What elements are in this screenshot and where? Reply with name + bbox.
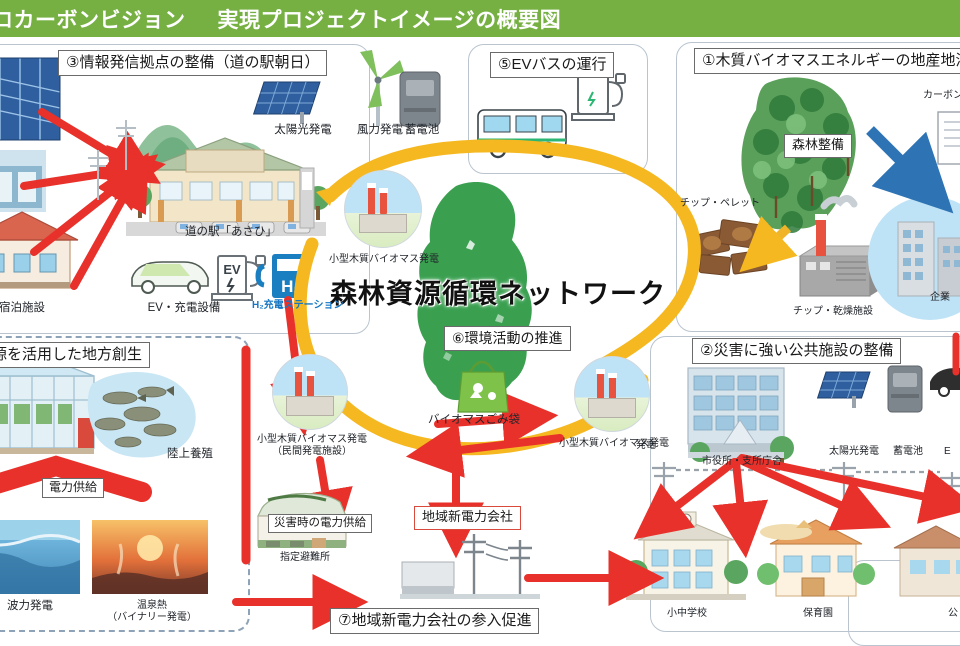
label-section-5[interactable]: ⑤EVバスの運行 (490, 52, 614, 78)
caption-chip-drying: チップ・乾燥施設 (778, 306, 888, 318)
label-forest-maintenance: 森林整備 (784, 134, 852, 158)
caption-city-hall: 市役所・支所庁舎 (692, 456, 792, 468)
caption-hotspring-l1: 温泉熱 (137, 600, 167, 611)
caption-wave-power: 波力発電 (0, 600, 70, 614)
label-power-supply: 電力供給 (42, 478, 104, 498)
caption-lodging: 宿泊施設 (0, 302, 68, 316)
caption-carbon-offset: カーボン (908, 90, 960, 102)
page-title-left: ロカーボンビジョン (0, 4, 186, 34)
page-title-bar: ロカーボンビジョン 実現プロジェクトイメージの概要図 (0, 0, 960, 37)
panel-section-4 (0, 336, 250, 632)
label-section-2[interactable]: ②災害に強い公共施設の整備 (692, 338, 901, 364)
battery-unit-icon (400, 72, 440, 126)
caption-battery-top: 蓄電池 (394, 124, 450, 138)
caption-land-aquaculture: 陸上養殖 (150, 448, 230, 462)
caption-facility-left: 施設 (0, 130, 26, 144)
label-environment-activity[interactable]: ⑥環境活動の推進 (444, 326, 571, 351)
caption-chip-pellet: チップ・ペレット (672, 198, 768, 210)
caption-company: 企業 (920, 292, 960, 304)
caption-ev-right: E (944, 446, 960, 458)
label-section-7[interactable]: ⑦地域新電力会社の参入促進 (330, 608, 539, 634)
caption-solar-top: 太陽光発電 (258, 124, 348, 138)
caption-shelter: 指定避難所 (262, 552, 348, 564)
label-disaster-power-supply: 災害時の電力供給 (268, 514, 372, 533)
small-biomass-plant-top (344, 170, 422, 248)
label-section-3[interactable]: ③情報発信拠点の整備（道の駅朝日） (58, 50, 327, 76)
caption-solar-right: 太陽光発電 (816, 446, 892, 458)
caption-public-right: 公 (948, 608, 960, 620)
caption-h2-station: H₂充電ステーション (252, 300, 328, 312)
panel-section-7 (848, 560, 960, 646)
network-title: 森林資源循環ネットワーク (330, 272, 666, 311)
caption-small-biomass-private-l1: 小型木質バイオマス発電 (257, 434, 367, 445)
substation-illustration (400, 534, 540, 599)
caption-biomass-power-left-edge: 発電 (636, 440, 692, 452)
caption-roadside-station: 道の駅「あさひ」 (176, 226, 286, 240)
label-section-1[interactable]: ①木質バイオマスエネルギーの地産地消 (694, 48, 960, 74)
caption-hotspring-l2: （バイナリー発電） (107, 612, 197, 623)
small-biomass-plant-private (272, 354, 348, 430)
caption-small-biomass-top: 小型木質バイオマス発電 (318, 254, 450, 266)
caption-small-biomass-private: 小型木質バイオマス発電 （民間発電施設） (242, 434, 382, 458)
caption-small-biomass-private-l2: （民間発電施設） (272, 446, 352, 457)
caption-ev-charging: EV・充電設備 (134, 302, 234, 316)
panel-section-3 (0, 44, 370, 334)
small-biomass-plant-right (574, 356, 650, 432)
caption-facility-left-2: 設 (0, 216, 6, 230)
caption-biomass-bag: バイオマスごみ袋 (414, 414, 534, 428)
panel-section-1 (676, 42, 960, 332)
infographic-canvas: ロカーボンビジョン 実現プロジェクトイメージの概要図 (0, 0, 960, 640)
caption-battery-right: 蓄電池 (884, 446, 932, 458)
label-new-power-company: 地域新電力会社 (414, 506, 521, 530)
caption-hotspring: 温泉熱 （バイナリー発電） (104, 600, 200, 624)
caption-school: 小中学校 (642, 608, 732, 620)
biomass-garbage-bag-illustration (458, 362, 508, 412)
caption-nursery: 保育園 (782, 608, 854, 620)
label-section-4[interactable]: ネ資源を活用した地方創生 (0, 342, 150, 368)
page-title-right: 実現プロジェクトイメージの概要図 (212, 4, 562, 34)
